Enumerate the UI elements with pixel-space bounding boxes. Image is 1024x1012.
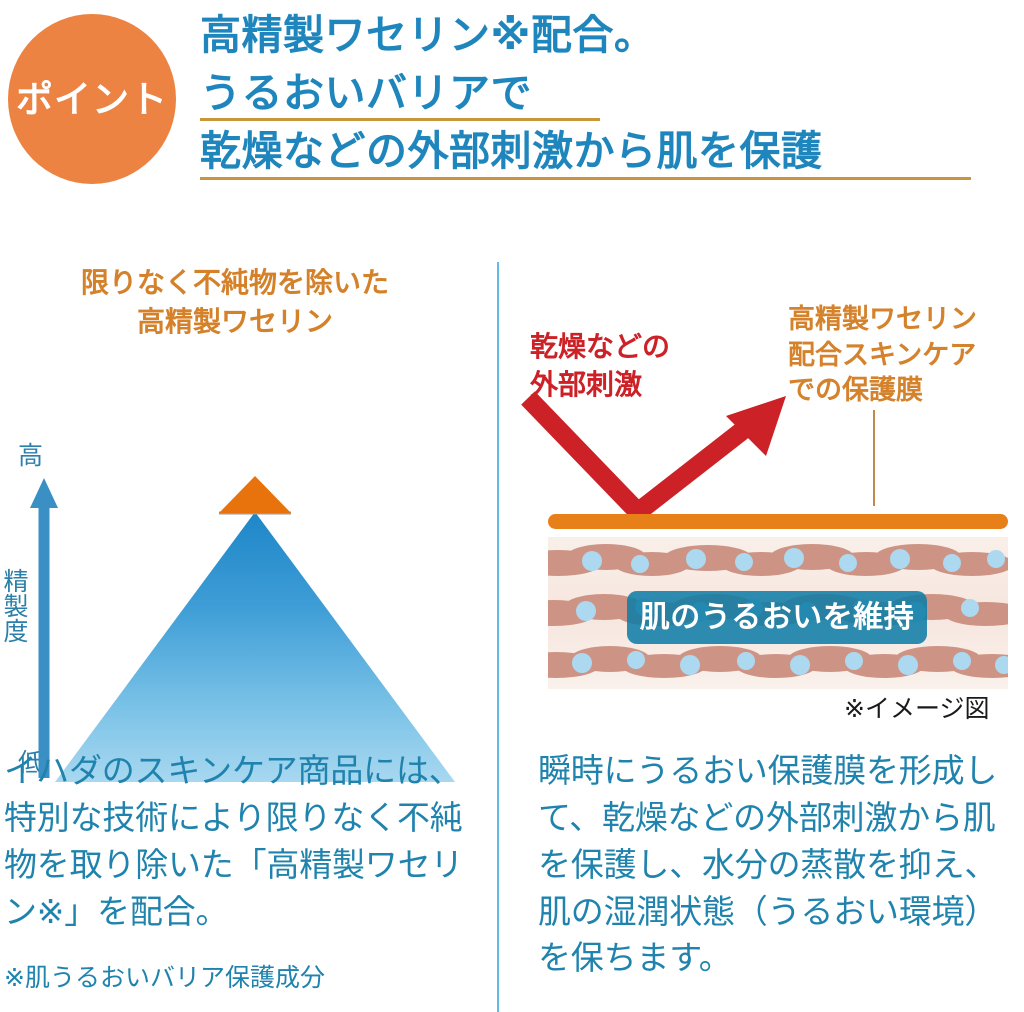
axis-up-arrow-icon <box>30 478 58 778</box>
headline-block: 高精製ワセリン※配合。 うるおいバリアで 乾燥などの外部刺激から肌を保護 <box>200 6 1010 181</box>
column-divider <box>497 262 499 1012</box>
pyramid-title: 限りなく不純物を除いた高精製ワセリン <box>0 264 470 341</box>
right-panel: 乾燥などの外部刺激 高精製ワセリン配合スキンケアでの保護膜 <box>500 250 1024 1012</box>
bouncing-stimulus-arrow-icon <box>520 390 820 525</box>
moisture-retention-badge: 肌のうるおいを維持 <box>627 591 927 644</box>
left-footnote: ※肌うるおいバリア保護成分 <box>4 962 325 995</box>
purity-pyramid-chart <box>55 464 455 784</box>
headline-line-3: 乾燥などの外部刺激から肌を保護 <box>200 122 1010 180</box>
headline-line-1: 高精製ワセリン※配合。 <box>200 6 1010 64</box>
right-body-text: 瞬時にうるおい保護膜を形成して、乾燥などの外部刺激から肌を保護し、水分の蒸散を抑… <box>538 748 1024 982</box>
pyramid-tip-segment <box>219 476 291 513</box>
purity-pyramid-figure: 高 低 精製度 <box>0 346 470 696</box>
left-panel: 限りなく不純物を除いた高精製ワセリン 高 低 精製度 <box>0 250 497 1012</box>
pyramid-base-segment <box>55 512 455 782</box>
skin-cell-row-1 <box>548 544 1008 576</box>
axis-caption-label: 精製度 <box>1 568 27 643</box>
image-disclaimer-note: ※イメージ図 <box>844 694 989 724</box>
header-banner: ポイント 高精製ワセリン※配合。 うるおいバリアで 乾燥などの外部刺激から肌を保… <box>0 0 1024 222</box>
skin-cell-row-3 <box>548 646 1008 678</box>
protective-barrier-bar <box>548 514 1008 529</box>
point-badge: ポイント <box>8 14 176 184</box>
point-badge-label: ポイント <box>16 81 168 118</box>
barrier-leader-line <box>873 410 875 506</box>
moisture-retention-badge-label: 肌のうるおいを維持 <box>640 603 915 633</box>
headline-line-2: うるおいバリアで <box>200 64 1010 122</box>
axis-high-label: 高 <box>18 444 43 469</box>
left-body-text: イハダのスキンケア商品には、特別な技術により限りなく不純物を取り除いた「高精製ワ… <box>4 748 474 935</box>
